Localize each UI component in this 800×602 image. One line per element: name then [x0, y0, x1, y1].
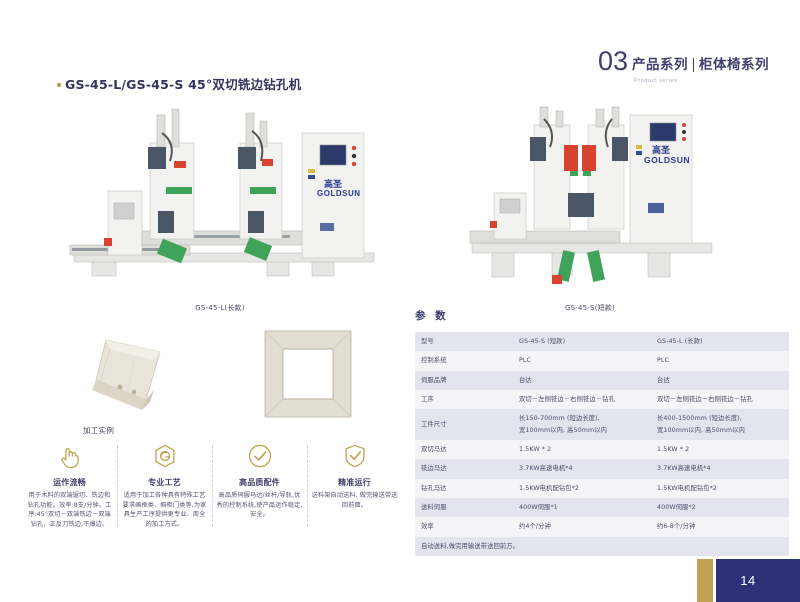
machine-caption-short: GS-45-S(短款): [530, 303, 650, 313]
table-row-note: 自动送料,做完用输送带送回前方。: [415, 537, 789, 556]
svg-text:高圣: 高圣: [652, 144, 671, 155]
page-header: 03 产品系列 Product series 柜体椅系列: [598, 33, 778, 75]
table-row: 伺服品牌 台达 台达: [415, 371, 789, 390]
header-title-group: 产品系列 Product series 柜体椅系列: [632, 58, 769, 75]
param-value-l: PLC: [651, 351, 789, 370]
param-value-s: 400W伺服*1: [513, 498, 651, 517]
feature-title: 精准运行: [311, 477, 398, 488]
gear-hexagon-icon: [152, 443, 178, 469]
sample-moulding-profile: [88, 330, 198, 420]
page-number: 14: [716, 559, 780, 602]
table-row: 工件尺寸 长150-700mm (短边长度), 宽100mm以内, 高50mm以…: [415, 409, 789, 440]
header-divider: [693, 58, 694, 72]
param-value-l: 约6-8个/分钟: [651, 517, 789, 536]
param-value-s: 3.7KW高速电机*4: [513, 459, 651, 478]
table-row: 控制系统 PLC PLC: [415, 351, 789, 370]
section-title-en: Product series: [634, 78, 678, 84]
features-list: 运作流畅 用于木料的双端锯切、铣边和钻孔功能。效率:8支/分钟。工序:45°双切…: [22, 443, 402, 529]
param-value-s: 长150-700mm (短边长度), 宽100mm以内, 高50mm以内: [513, 409, 651, 440]
param-key: 送料伺服: [415, 498, 513, 517]
param-key: 控制系统: [415, 351, 513, 370]
param-value-s: 约4个/分钟: [513, 517, 651, 536]
feature-title: 专业工艺: [121, 477, 208, 488]
param-note: 自动送料,做完用输送带送回前方。: [415, 537, 789, 556]
param-key: 双切马达: [415, 440, 513, 459]
hand-touch-icon: [57, 443, 83, 469]
section-number: 03: [598, 48, 628, 75]
check-circle-icon: [247, 443, 273, 469]
sample-picture-frame: [262, 328, 354, 420]
svg-text:GOLDSUN: GOLDSUN: [644, 155, 690, 165]
samples-label: 加工实例: [83, 425, 114, 436]
param-value-s: 1.5KW * 2: [513, 440, 651, 459]
feature-desc: 送料架自动送料, 做完输送带送回前面。: [311, 491, 398, 510]
param-key: 工件尺寸: [415, 409, 513, 440]
table-row: 钻孔马达 1.5KW电机配钻包*2 1.5KW电机配钻包*2: [415, 479, 789, 498]
param-value-l: 3.7KW高速电机*4: [651, 459, 789, 478]
param-value-l: 双切－左侧铣边－右侧铣边－钻孔: [651, 390, 789, 409]
section-subtitle-cn: 柜体椅系列: [699, 58, 769, 73]
params-heading: 参 数: [415, 308, 449, 323]
param-value-l: GS-45-L (长款): [651, 332, 789, 351]
feature-desc: 适用于加工各种具有特殊工艺要求画框类、橱柜门类等,为家具生产工序提供更专业、周全…: [121, 491, 208, 529]
param-value-l: 长400-1500mm (短边长度), 宽100mm以内, 高50mm以内: [651, 409, 789, 440]
machine-photo-long: 高圣 GOLDSUN: [62, 103, 402, 293]
feature-title: 高品质配件: [216, 477, 303, 488]
params-table: 型号 GS-45-S (短款) GS-45-L (长款) 控制系统 PLC PL…: [415, 332, 789, 556]
param-key: 工序: [415, 390, 513, 409]
param-value-l: 1.5KW电机配钻包*2: [651, 479, 789, 498]
param-key: 钻孔马达: [415, 479, 513, 498]
section-title-cn: 产品系列: [632, 58, 688, 73]
table-row: 铣边马达 3.7KW高速电机*4 3.7KW高速电机*4: [415, 459, 789, 478]
feature-item-professional-craft: 专业工艺 适用于加工各种具有特殊工艺要求画框类、橱柜门类等,为家具生产工序提供更…: [117, 443, 212, 529]
product-title-text: GS-45-L/GS-45-S 45°双切铣边钻孔机: [65, 74, 301, 93]
param-key: 效率: [415, 517, 513, 536]
feature-item-smooth-operation: 运作流畅 用于木料的双端锯切、铣边和钻孔功能。效率:8支/分钟。工序:45°双切…: [22, 443, 117, 529]
param-value-s: GS-45-S (短款): [513, 332, 651, 351]
feature-desc: 用于木料的双端锯切、铣边和钻孔功能。效率:8支/分钟。工序:45°双切－双端铣边…: [26, 491, 113, 529]
param-value-s: 台达: [513, 371, 651, 390]
product-title: GS-45-L/GS-45-S 45°双切铣边钻孔机: [57, 74, 301, 93]
param-key: 伺服品牌: [415, 371, 513, 390]
param-value-s: 1.5KW电机配钻包*2: [513, 479, 651, 498]
table-row: 工序 双切－左侧铣边－右侧铣边－钻孔 双切－左侧铣边－右侧铣边－钻孔: [415, 390, 789, 409]
svg-text:高圣: 高圣: [324, 178, 343, 189]
feature-item-quality-parts: 高品质配件 高品质伺服马达/丝杆/导轨,优秀的控制系统,使产品运作稳定,安全。: [212, 443, 307, 529]
param-key: 铣边马达: [415, 459, 513, 478]
param-value-s: PLC: [513, 351, 651, 370]
feature-item-precise-operation: 精准运行 送料架自动送料, 做完输送带送回前面。: [307, 443, 402, 529]
param-value-l: 台达: [651, 371, 789, 390]
table-row: 效率 约4个/分钟 约6-8个/分钟: [415, 517, 789, 536]
param-value-l: 400W伺服*2: [651, 498, 789, 517]
feature-desc: 高品质伺服马达/丝杆/导轨,优秀的控制系统,使产品运作稳定,安全。: [216, 491, 303, 520]
feature-title: 运作流畅: [26, 477, 113, 488]
table-row: 双切马达 1.5KW * 2 1.5KW * 2: [415, 440, 789, 459]
param-value-l: 1.5KW * 2: [651, 440, 789, 459]
footer-accent-bar: [697, 559, 713, 602]
param-key: 型号: [415, 332, 513, 351]
param-value-s: 双切－左侧铣边－右侧铣边－钻孔: [513, 390, 651, 409]
table-row: 送料伺服 400W伺服*1 400W伺服*2: [415, 498, 789, 517]
svg-text:GOLDSUN: GOLDSUN: [317, 189, 361, 198]
machine-photo-short: 高圣 GOLDSUN: [452, 103, 742, 293]
bullet-icon: [57, 83, 61, 87]
check-shield-icon: [342, 443, 368, 469]
table-row: 型号 GS-45-S (短款) GS-45-L (长款): [415, 332, 789, 351]
catalog-page: 03 产品系列 Product series 柜体椅系列 GS-45-L/GS-…: [0, 0, 800, 602]
machine-caption-long: GS-45-L(长款): [160, 303, 280, 313]
